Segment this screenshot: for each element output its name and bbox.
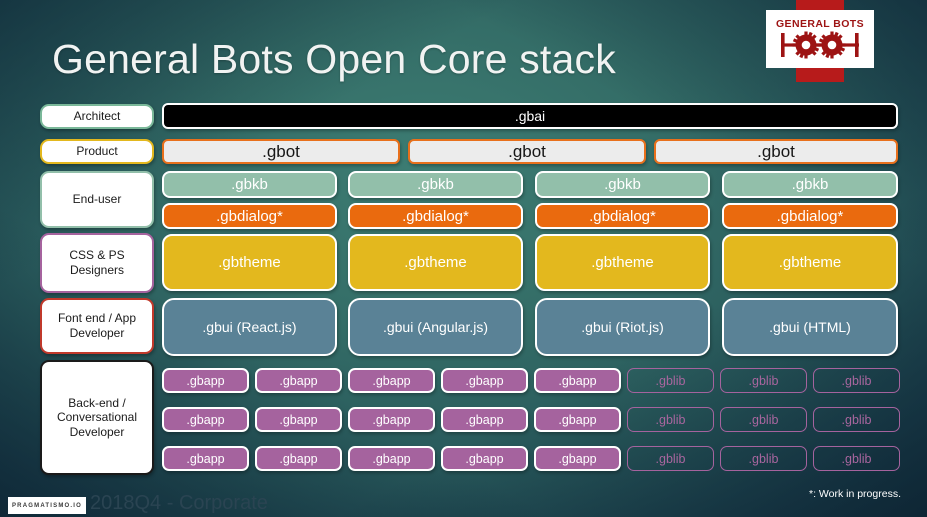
- role-label-text: Back-end / Conversational Developer: [57, 396, 137, 440]
- role-label-end-user: End-user: [40, 171, 154, 228]
- layer-label: .gbapp: [558, 374, 596, 388]
- layer-gbui-react[interactable]: .gbui (React.js): [162, 298, 337, 356]
- role-label-text: CSS & PS Designers: [69, 248, 124, 277]
- logo-box: GENERAL BOTS: [766, 10, 874, 68]
- layer-gbdialog-2[interactable]: .gbdialog*: [348, 203, 523, 229]
- layer-label: .gbui (HTML): [769, 319, 851, 335]
- layer-gblib[interactable]: .gblib: [627, 407, 714, 432]
- layer-gbtheme-3[interactable]: .gbtheme: [535, 234, 710, 291]
- layer-label: .gbapp: [558, 452, 596, 466]
- layer-gbapp[interactable]: .gbapp: [348, 368, 435, 393]
- layer-label: .gblib: [749, 452, 779, 466]
- role-label-architect: Architect: [40, 104, 154, 129]
- slide-canvas: General Bots Open Core stack GENERAL BOT…: [0, 0, 927, 517]
- layer-gbot-1[interactable]: .gbot: [162, 139, 400, 164]
- role-label-text: Product: [76, 144, 117, 159]
- layer-label: .gblib: [656, 413, 686, 427]
- layer-gbkb-1[interactable]: .gbkb: [162, 171, 337, 198]
- layer-label: .gblib: [749, 374, 779, 388]
- layer-gbapp[interactable]: .gbapp: [348, 446, 435, 471]
- layer-label: .gbtheme: [218, 254, 281, 271]
- layer-label: .gbapp: [186, 374, 224, 388]
- layer-gbapp[interactable]: .gbapp: [348, 407, 435, 432]
- layer-label: .gbot: [262, 142, 300, 162]
- layer-label: .gblib: [656, 374, 686, 388]
- layer-label: .gblib: [842, 452, 872, 466]
- layer-gbdialog-3[interactable]: .gbdialog*: [535, 203, 710, 229]
- layer-label: .gbapp: [558, 413, 596, 427]
- layer-label: .gbot: [757, 142, 795, 162]
- layer-label: .gbui (Riot.js): [581, 319, 663, 335]
- layer-label: .gblib: [842, 413, 872, 427]
- role-label-css-ps-designers: CSS & PS Designers: [40, 233, 154, 293]
- layer-gblib[interactable]: .gblib: [627, 368, 714, 393]
- layer-label: .gbtheme: [404, 254, 467, 271]
- general-bots-logo: GENERAL BOTS: [766, 0, 874, 82]
- layer-gblib[interactable]: .gblib: [813, 368, 900, 393]
- layer-gblib[interactable]: .gblib: [720, 446, 807, 471]
- layer-gbot-2[interactable]: .gbot: [408, 139, 646, 164]
- layer-label: .gblib: [842, 374, 872, 388]
- page-title: General Bots Open Core stack: [52, 36, 616, 83]
- layer-gbui-riot[interactable]: .gbui (Riot.js): [535, 298, 710, 356]
- role-label-product: Product: [40, 139, 154, 164]
- layer-gblib[interactable]: .gblib: [720, 407, 807, 432]
- layer-label: .gbapp: [372, 413, 410, 427]
- layer-gbdialog-1[interactable]: .gbdialog*: [162, 203, 337, 229]
- two-gears-between-bars-icon: [777, 31, 863, 59]
- layer-label: .gbdialog*: [402, 208, 469, 225]
- layer-gbai[interactable]: .gbai: [162, 103, 898, 129]
- footer-caption: 2018Q4 - Corporate: [90, 492, 268, 515]
- layer-gbkb-3[interactable]: .gbkb: [535, 171, 710, 198]
- layer-label: .gbdialog*: [777, 208, 844, 225]
- layer-gbapp[interactable]: .gbapp: [441, 407, 528, 432]
- layer-gbtheme-1[interactable]: .gbtheme: [162, 234, 337, 291]
- layer-label: .gbapp: [465, 452, 503, 466]
- logo-wordmark: GENERAL BOTS: [776, 19, 864, 30]
- layer-gbapp[interactable]: .gbapp: [162, 407, 249, 432]
- layer-label: .gbkb: [417, 176, 454, 193]
- layer-gblib[interactable]: .gblib: [720, 368, 807, 393]
- layer-gbapp[interactable]: .gbapp: [162, 368, 249, 393]
- layer-gbui-html[interactable]: .gbui (HTML): [722, 298, 898, 356]
- layer-gbui-angular[interactable]: .gbui (Angular.js): [348, 298, 523, 356]
- role-label-frontend-app-developer: Font end / App Developer: [40, 298, 154, 354]
- layer-gblib[interactable]: .gblib: [813, 407, 900, 432]
- layer-label: .gbapp: [465, 374, 503, 388]
- layer-label: .gbot: [508, 142, 546, 162]
- work-in-progress-note: *: Work in progress.: [809, 488, 901, 500]
- layer-gbapp[interactable]: .gbapp: [534, 368, 621, 393]
- layer-gbapp[interactable]: .gbapp: [162, 446, 249, 471]
- layer-gblib[interactable]: .gblib: [813, 446, 900, 471]
- layer-gbapp[interactable]: .gbapp: [441, 368, 528, 393]
- layer-label: .gbapp: [279, 452, 317, 466]
- layer-gbapp[interactable]: .gbapp: [255, 446, 342, 471]
- layer-label: .gblib: [749, 413, 779, 427]
- layer-gbkb-4[interactable]: .gbkb: [722, 171, 898, 198]
- layer-gbapp[interactable]: .gbapp: [441, 446, 528, 471]
- layer-label: .gbui (React.js): [202, 319, 296, 335]
- layer-gbdialog-4[interactable]: .gbdialog*: [722, 203, 898, 229]
- layer-label: .gbapp: [186, 452, 224, 466]
- role-label-text: Architect: [74, 109, 121, 124]
- layer-gbtheme-4[interactable]: .gbtheme: [722, 234, 898, 291]
- pragmatismo-logo-text: PRAGMATISMO.IO: [12, 503, 82, 509]
- layer-label: .gblib: [656, 452, 686, 466]
- layer-label: .gbkb: [792, 176, 829, 193]
- layer-label: .gbkb: [604, 176, 641, 193]
- layer-label: .gbdialog*: [589, 208, 656, 225]
- layer-label: .gbapp: [279, 374, 317, 388]
- layer-gbapp[interactable]: .gbapp: [255, 368, 342, 393]
- layer-label: .gbai: [515, 108, 545, 124]
- layer-label: .gbapp: [279, 413, 317, 427]
- layer-label: .gbapp: [186, 413, 224, 427]
- layer-gbkb-2[interactable]: .gbkb: [348, 171, 523, 198]
- layer-label: .gbtheme: [779, 254, 842, 271]
- layer-label: .gbui (Angular.js): [383, 319, 488, 335]
- layer-label: .gbdialog*: [216, 208, 283, 225]
- layer-gbtheme-2[interactable]: .gbtheme: [348, 234, 523, 291]
- layer-label: .gbapp: [372, 452, 410, 466]
- layer-label: .gbapp: [372, 374, 410, 388]
- layer-gbapp[interactable]: .gbapp: [255, 407, 342, 432]
- layer-gbapp[interactable]: .gbapp: [534, 446, 621, 471]
- layer-gblib[interactable]: .gblib: [627, 446, 714, 471]
- layer-gbot-3[interactable]: .gbot: [654, 139, 898, 164]
- pragmatismo-logo: PRAGMATISMO.IO: [8, 497, 86, 514]
- role-label-text: End-user: [73, 192, 122, 207]
- role-label-backend-conversational-developer: Back-end / Conversational Developer: [40, 360, 154, 475]
- layer-label: .gbkb: [231, 176, 268, 193]
- layer-gbapp[interactable]: .gbapp: [534, 407, 621, 432]
- role-label-text: Font end / App Developer: [58, 311, 136, 340]
- layer-label: .gbapp: [465, 413, 503, 427]
- layer-label: .gbtheme: [591, 254, 654, 271]
